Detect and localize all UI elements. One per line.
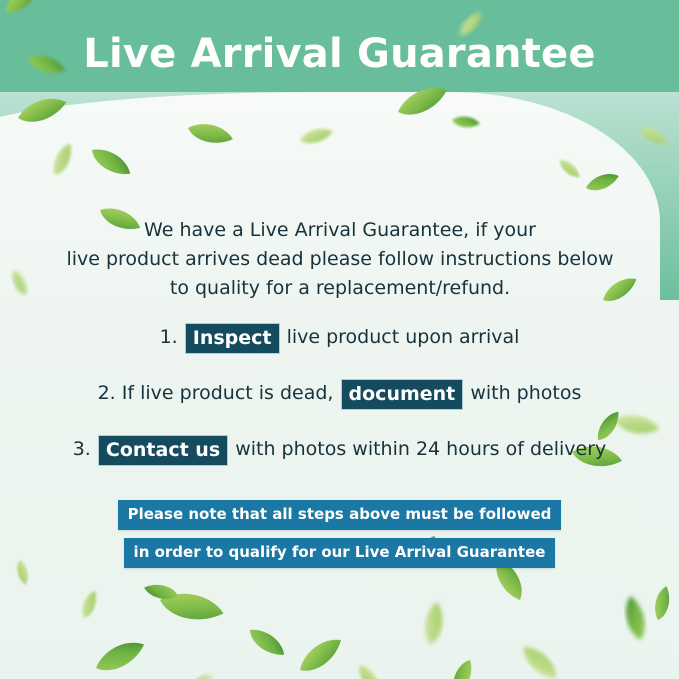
poster-content: Live Arrival Guarantee We have a Live Ar…: [0, 0, 679, 679]
step-item-2: 2. If live product is dead, document wit…: [0, 374, 679, 430]
note-banner-1: Please note that all steps above must be…: [118, 500, 562, 530]
step-number: 1.: [160, 326, 178, 348]
step-text-after: with photos within 24 hours of delivery: [235, 438, 606, 460]
step-highlight-inspect[interactable]: Inspect: [186, 324, 279, 353]
step-text-after: with photos: [470, 382, 581, 404]
step-item-1: 1. Inspect live product upon arrival: [0, 318, 679, 374]
intro-line-3: to quality for a replacement/refund.: [60, 274, 620, 303]
steps-list: 1. Inspect live product upon arrival 2. …: [0, 318, 679, 486]
step-highlight-contact-us[interactable]: Contact us: [99, 436, 227, 465]
footer-notes: Please note that all steps above must be…: [0, 500, 679, 576]
intro-line-2: live product arrives dead please follow …: [60, 245, 620, 274]
intro-paragraph: We have a Live Arrival Guarantee, if you…: [60, 216, 620, 303]
step-text-after: live product upon arrival: [287, 326, 520, 348]
step-number: 2.: [98, 382, 116, 404]
note-row-1: Please note that all steps above must be…: [0, 500, 679, 530]
step-item-3: 3. Contact us with photos within 24 hour…: [0, 430, 679, 486]
step-text-before: If live product is dead,: [122, 382, 334, 404]
step-highlight-document[interactable]: document: [342, 380, 463, 409]
intro-line-1: We have a Live Arrival Guarantee, if you…: [60, 216, 620, 245]
note-banner-2: in order to qualify for our Live Arrival…: [124, 538, 556, 568]
step-number: 3.: [73, 438, 91, 460]
note-row-2: in order to qualify for our Live Arrival…: [0, 538, 679, 568]
live-arrival-guarantee-poster: Live Arrival Guarantee We have a Live Ar…: [0, 0, 679, 679]
page-title: Live Arrival Guarantee: [0, 31, 679, 77]
